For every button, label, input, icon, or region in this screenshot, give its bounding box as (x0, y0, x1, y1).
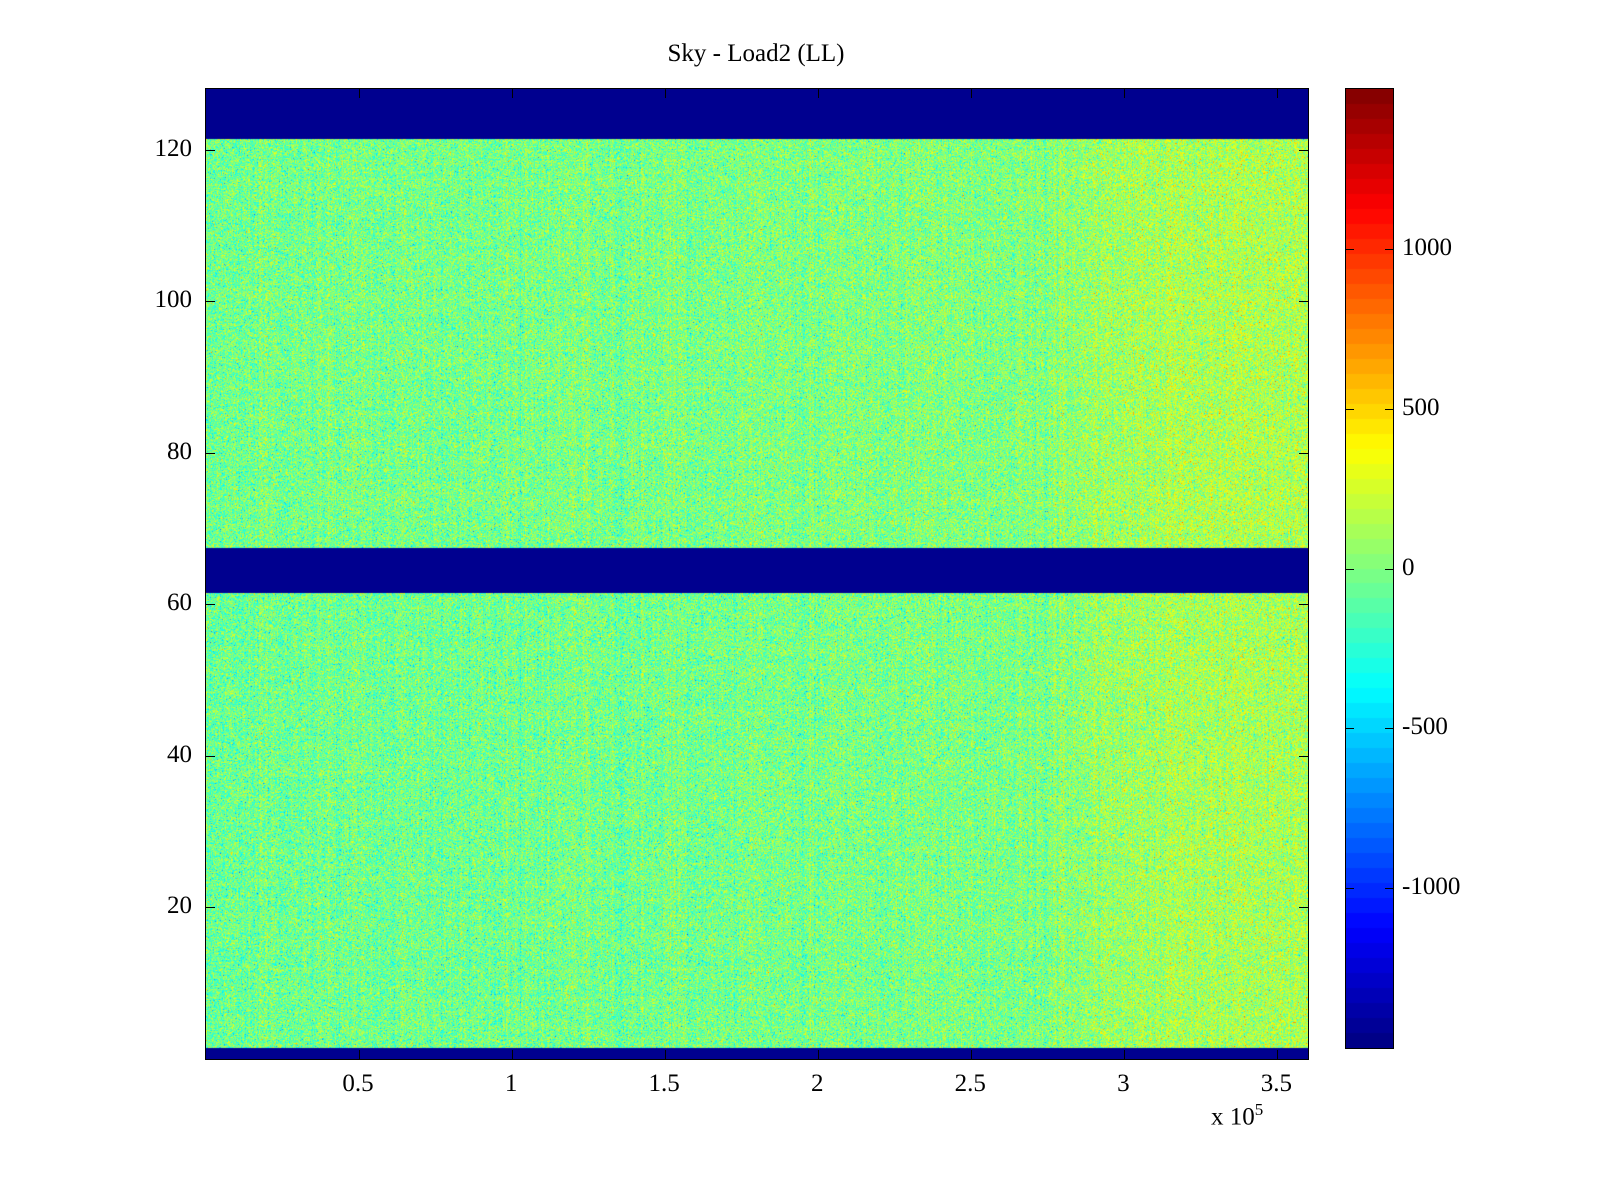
x-axis-exponent-label: x 105 (1211, 1100, 1263, 1131)
x-tick-mark-top (665, 89, 666, 98)
page-title: Sky - Load2 (LL) (205, 40, 1307, 68)
colorbar-tick-label: 500 (1402, 394, 1440, 422)
heatmap-image (206, 89, 1308, 1059)
colorbar-tick-mark-right (1385, 728, 1393, 729)
y-tick-label: 100 (120, 286, 192, 314)
x-tick-mark-top (971, 89, 972, 98)
y-tick-mark (206, 150, 215, 151)
y-tick-mark-right (1299, 301, 1308, 302)
y-tick-label: 40 (120, 741, 192, 769)
x-tick-mark-top (512, 89, 513, 98)
x-tick-label: 3.5 (1261, 1070, 1292, 1098)
x-exponent-mantissa: x 10 (1211, 1103, 1255, 1130)
y-tick-mark-right (1299, 604, 1308, 605)
y-tick-label: 80 (120, 438, 192, 466)
y-tick-label: 120 (120, 135, 192, 163)
x-tick-label: 3 (1117, 1070, 1130, 1098)
x-tick-mark-top (359, 89, 360, 98)
colorbar-tick-mark (1346, 569, 1354, 570)
colorbar-tick-label: -500 (1402, 713, 1448, 741)
colorbar-tick-label: 1000 (1402, 234, 1452, 262)
y-tick-mark (206, 453, 215, 454)
colorbar-tick-label: -1000 (1402, 873, 1460, 901)
colorbar-tick-label: 0 (1402, 554, 1415, 582)
x-tick-label: 2 (811, 1070, 824, 1098)
x-tick-mark (665, 1050, 666, 1059)
x-tick-mark (359, 1050, 360, 1059)
x-tick-mark-top (818, 89, 819, 98)
x-tick-label: 2.5 (955, 1070, 986, 1098)
x-tick-mark (1277, 1050, 1278, 1059)
x-exponent-power: 5 (1255, 1100, 1264, 1119)
colorbar-tick-mark-right (1385, 888, 1393, 889)
colorbar-tick-mark (1346, 249, 1354, 250)
x-tick-mark-top (1124, 89, 1125, 98)
x-tick-mark (971, 1050, 972, 1059)
x-tick-mark-top (1277, 89, 1278, 98)
colorbar[interactable] (1345, 88, 1394, 1049)
x-tick-label: 1 (505, 1070, 518, 1098)
y-tick-label: 20 (120, 892, 192, 920)
y-tick-mark-right (1299, 150, 1308, 151)
colorbar-tick-mark (1346, 409, 1354, 410)
y-tick-mark (206, 907, 215, 908)
y-tick-mark (206, 604, 215, 605)
colorbar-tick-mark (1346, 888, 1354, 889)
figure-canvas: Sky - Load2 (LL) 0.511.522.533.5 2040608… (0, 0, 1600, 1200)
colorbar-tick-mark-right (1385, 409, 1393, 410)
y-tick-mark-right (1299, 756, 1308, 757)
x-tick-mark (818, 1050, 819, 1059)
heatmap-axes[interactable] (205, 88, 1309, 1060)
x-tick-label: 1.5 (649, 1070, 680, 1098)
colorbar-tick-mark (1346, 728, 1354, 729)
y-tick-label: 60 (120, 589, 192, 617)
y-tick-mark-right (1299, 453, 1308, 454)
y-tick-mark (206, 756, 215, 757)
colorbar-tick-mark-right (1385, 249, 1393, 250)
y-tick-mark (206, 301, 215, 302)
y-tick-mark-right (1299, 907, 1308, 908)
x-tick-mark (512, 1050, 513, 1059)
x-tick-mark (1124, 1050, 1125, 1059)
x-tick-label: 0.5 (342, 1070, 373, 1098)
colorbar-tick-mark-right (1385, 569, 1393, 570)
